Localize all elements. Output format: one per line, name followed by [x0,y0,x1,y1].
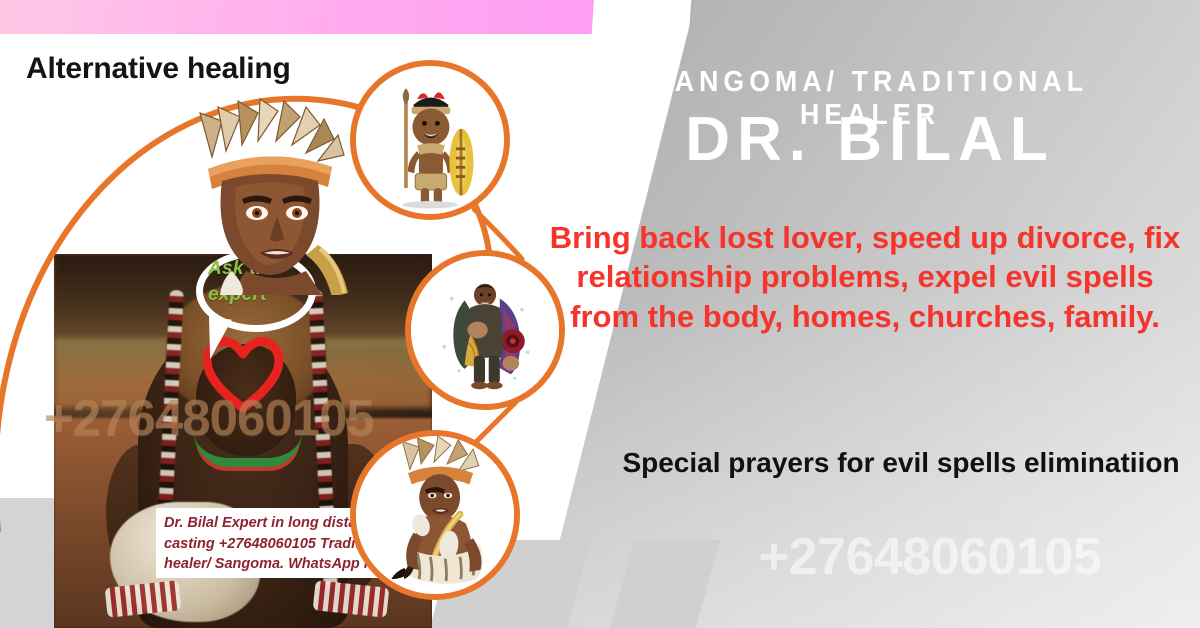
phone-watermark: +27648060105 [660,527,1200,587]
circle-badge-zulu-warrior[interactable] [350,60,510,220]
top-bar-pink [0,0,594,34]
page-title-alternative-healing: Alternative healing [26,52,291,86]
healer-portrait-illustration [150,95,380,295]
poster-canvas: Ask the expert +27648060105 Dr. Bilal Ex… [0,0,1200,628]
headline-doctor-name: DR. BILAL [560,104,1180,175]
services-text: Bring back lost lover, speed up divorce,… [540,218,1190,336]
photo-phone-overlay: +27648060105 [44,388,454,447]
circle-badge-crouching-sangoma[interactable] [350,430,520,600]
special-prayers-text: Special prayers for evil spells eliminat… [616,444,1186,482]
